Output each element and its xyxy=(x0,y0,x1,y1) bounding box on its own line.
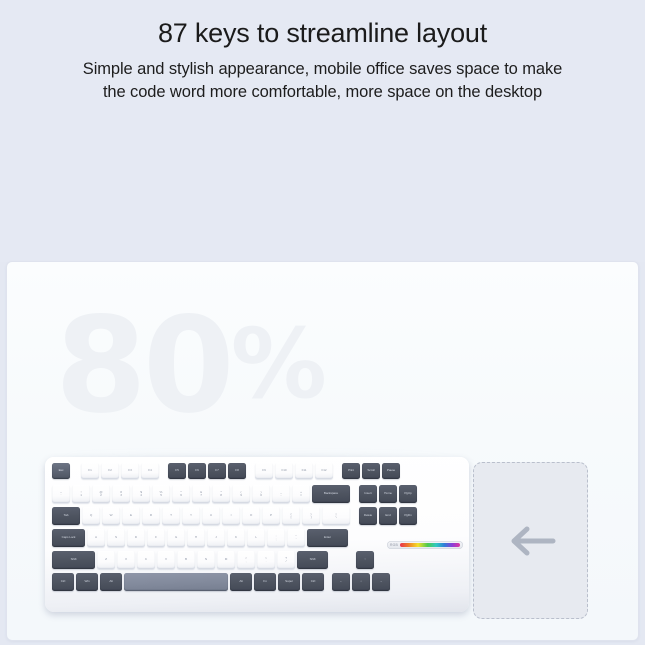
key-z[interactable]: Z xyxy=(97,551,115,569)
watermark-80-percent: 80% xyxy=(55,300,325,432)
key-super[interactable]: Super xyxy=(278,573,300,591)
key-space[interactable] xyxy=(124,573,228,591)
key-r[interactable]: R xyxy=(142,507,160,525)
key-k[interactable]: K xyxy=(227,529,245,547)
key--5[interactable]: % 5 xyxy=(152,485,170,503)
key--6[interactable]: ^ 6 xyxy=(172,485,190,503)
rgb-indicator-badge: RGB xyxy=(387,541,463,549)
key---[interactable]: _ - xyxy=(272,485,290,503)
key-e[interactable]: E xyxy=(122,507,140,525)
key--[interactable]: ~ ` xyxy=(52,485,70,503)
key-f7[interactable]: F7 xyxy=(208,463,226,479)
key-f10[interactable]: F10 xyxy=(275,463,293,479)
key-key[interactable]: ← xyxy=(332,573,350,591)
key-u[interactable]: U xyxy=(202,507,220,525)
key-home[interactable]: Home xyxy=(379,485,397,503)
key--7[interactable]: & 7 xyxy=(192,485,210,503)
key-f9[interactable]: F9 xyxy=(255,463,273,479)
key-f[interactable]: F xyxy=(147,529,165,547)
product-image-card: 80% EscF1F2F3F4F5F6F7F8F9F10F11F12PrintS… xyxy=(7,262,638,640)
key-p[interactable]: P xyxy=(262,507,280,525)
key-backspace[interactable]: Backspace xyxy=(312,485,350,503)
keyboard-rows: EscF1F2F3F4F5F6F7F8F9F10F11F12PrintScrol… xyxy=(52,463,462,604)
key-f1[interactable]: F1 xyxy=(81,463,99,479)
key--1[interactable]: ! 1 xyxy=(72,485,90,503)
key-f3[interactable]: F3 xyxy=(121,463,139,479)
key--[interactable]: + = xyxy=(292,485,310,503)
keyboard-row-function-row: EscF1F2F3F4F5F6F7F8F9F10F11F12PrintScrol… xyxy=(52,463,462,481)
key-d[interactable]: D xyxy=(127,529,145,547)
key-f4[interactable]: F4 xyxy=(141,463,159,479)
key-j[interactable]: J xyxy=(207,529,225,547)
key-alt[interactable]: Alt xyxy=(100,573,122,591)
key-b[interactable]: B xyxy=(177,551,195,569)
keyboard-row-bottom-row: CtrlWinAltAltFnSuperCtrl←↓→ xyxy=(52,573,462,593)
key-win[interactable]: Win xyxy=(76,573,98,591)
key--9[interactable]: ( 9 xyxy=(232,485,250,503)
key--[interactable]: " ' xyxy=(287,529,305,547)
key-m[interactable]: M xyxy=(217,551,235,569)
key-key[interactable]: ↓ xyxy=(352,573,370,591)
watermark-number: 80 xyxy=(55,289,231,443)
key--[interactable]: | \ xyxy=(322,507,350,525)
key-pgdn[interactable]: PgDn xyxy=(399,507,417,525)
key-f5[interactable]: F5 xyxy=(168,463,186,479)
key--8[interactable]: * 8 xyxy=(212,485,230,503)
key--[interactable]: ? / xyxy=(277,551,295,569)
key-o[interactable]: O xyxy=(242,507,260,525)
key-h[interactable]: H xyxy=(187,529,205,547)
key-print[interactable]: Print xyxy=(342,463,360,479)
key-ctrl[interactable]: Ctrl xyxy=(52,573,74,591)
subtitle-line-2: the code word more comfortable, more spa… xyxy=(0,81,645,104)
key-y[interactable]: Y xyxy=(182,507,200,525)
keyboard-row-tab-row: TabQWERTYUIOP{ [} ]| \DeleteEndPgDn xyxy=(52,507,462,527)
key--[interactable]: : ; xyxy=(267,529,285,547)
watermark-percent-symbol: % xyxy=(231,308,325,420)
key-caps-lock[interactable]: Caps Lock xyxy=(52,529,85,547)
key-key[interactable]: ↑ xyxy=(356,551,374,569)
key-insert[interactable]: Insert xyxy=(359,485,377,503)
key-i[interactable]: I xyxy=(222,507,240,525)
key--0[interactable]: ) 0 xyxy=(252,485,270,503)
key-alt[interactable]: Alt xyxy=(230,573,252,591)
key-t[interactable]: T xyxy=(162,507,180,525)
key-scroll[interactable]: Scroll xyxy=(362,463,380,479)
key-c[interactable]: C xyxy=(137,551,155,569)
rgb-badge-label: RGB xyxy=(390,543,398,547)
image-placeholder-box[interactable] xyxy=(473,462,588,619)
key-q[interactable]: Q xyxy=(82,507,100,525)
key-pause[interactable]: Pause xyxy=(382,463,400,479)
key--3[interactable]: # 3 xyxy=(112,485,130,503)
key-shift[interactable]: Shift xyxy=(297,551,328,569)
key-a[interactable]: A xyxy=(87,529,105,547)
key-ctrl[interactable]: Ctrl xyxy=(302,573,324,591)
key-fn[interactable]: Fn xyxy=(254,573,276,591)
key-esc[interactable]: Esc xyxy=(52,463,70,479)
key-s[interactable]: S xyxy=(107,529,125,547)
key-v[interactable]: V xyxy=(157,551,175,569)
key--[interactable]: { [ xyxy=(282,507,300,525)
key-w[interactable]: W xyxy=(102,507,120,525)
mechanical-keyboard: EscF1F2F3F4F5F6F7F8F9F10F11F12PrintScrol… xyxy=(45,457,469,612)
key--[interactable]: > . xyxy=(257,551,275,569)
key-g[interactable]: G xyxy=(167,529,185,547)
key-end[interactable]: End xyxy=(379,507,397,525)
keyboard-row-number-row: ~ `! 1@ 2# 3$ 4% 5^ 6& 7* 8( 9) 0_ -+ =B… xyxy=(52,485,462,505)
page-title: 87 keys to streamline layout xyxy=(0,18,645,49)
subtitle-line-1: Simple and stylish appearance, mobile of… xyxy=(0,58,645,81)
key-f11[interactable]: F11 xyxy=(295,463,313,479)
key-x[interactable]: X xyxy=(117,551,135,569)
key-l[interactable]: L xyxy=(247,529,265,547)
key--2[interactable]: @ 2 xyxy=(92,485,110,503)
key-n[interactable]: N xyxy=(197,551,215,569)
key-f8[interactable]: F8 xyxy=(228,463,246,479)
key-shift[interactable]: Shift xyxy=(52,551,95,569)
key-key[interactable]: → xyxy=(372,573,390,591)
key-f6[interactable]: F6 xyxy=(188,463,206,479)
key-f12[interactable]: F12 xyxy=(315,463,333,479)
rgb-color-strip xyxy=(400,543,460,547)
key-delete[interactable]: Delete xyxy=(359,507,377,525)
key--4[interactable]: $ 4 xyxy=(132,485,150,503)
key-pgup[interactable]: PgUp xyxy=(399,485,417,503)
key--[interactable]: < , xyxy=(237,551,255,569)
key-f2[interactable]: F2 xyxy=(101,463,119,479)
key--[interactable]: } ] xyxy=(302,507,320,525)
header-banner: 87 keys to streamline layout Simple and … xyxy=(0,0,645,262)
arrow-left-icon xyxy=(505,524,557,558)
key-enter[interactable]: Enter xyxy=(307,529,348,547)
key-tab[interactable]: Tab xyxy=(52,507,80,525)
keyboard-row-shift-row: ShiftZXCVBNM< ,> .? /Shift↑ xyxy=(52,551,462,571)
